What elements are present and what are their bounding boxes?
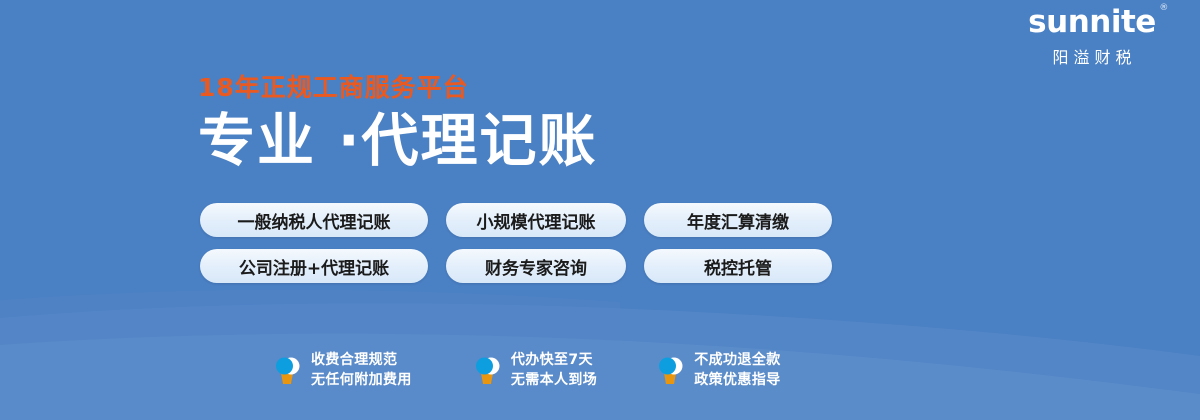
feature-item-speed: 代办快至7天 无需本人到场 [472,350,597,391]
registered-trademark-icon: ® [1159,4,1168,13]
hero-text-block: 18年正规工商服务平台 专业 ·代理记账 [198,74,598,172]
brand-logo[interactable]: sunnite ® 阳溢财税 [1002,6,1182,68]
service-pill-grid: 一般纳税人代理记账 小规模代理记账 年度汇算清缴 公司注册+代理记账 财务专家咨… [200,203,832,283]
feature-text: 代办快至7天 无需本人到场 [511,350,597,391]
feature-line-1: 不成功退全款 [694,350,780,370]
service-pill-expert-consulting[interactable]: 财务专家咨询 [446,249,626,283]
feature-line-2: 无需本人到场 [511,370,597,390]
feature-item-refund: 不成功退全款 政策优惠指导 [655,350,780,391]
logo-chinese-name: 阳溢财税 [1002,44,1182,68]
feature-line-2: 无任何附加费用 [311,370,412,390]
feature-line-2: 政策优惠指导 [694,370,780,390]
feature-item-pricing: 收费合理规范 无任何附加费用 [272,350,412,391]
logo-wordmark-text: sunnite [1028,4,1156,40]
badge-circle-icon [472,353,502,387]
service-pill-annual-settlement[interactable]: 年度汇算清缴 [644,203,832,237]
service-pill-tax-control-custody[interactable]: 税控托管 [644,249,832,283]
badge-circle-icon [272,353,302,387]
service-pill-row: 公司注册+代理记账 财务专家咨询 税控托管 [200,249,832,283]
feature-line-1: 代办快至7天 [511,350,597,370]
promo-banner: sunnite ® 阳溢财税 18年正规工商服务平台 专业 ·代理记账 一般纳税… [0,0,1200,420]
service-pill-row: 一般纳税人代理记账 小规模代理记账 年度汇算清缴 [200,203,832,237]
hero-headline: 专业 ·代理记账 [198,111,598,173]
badge-circle-icon [655,353,685,387]
service-pill-company-registration[interactable]: 公司注册+代理记账 [200,249,428,283]
service-pill-small-scale[interactable]: 小规模代理记账 [446,203,626,237]
feature-line-1: 收费合理规范 [311,350,412,370]
hero-eyebrow: 18年正规工商服务平台 [198,74,598,102]
feature-text: 收费合理规范 无任何附加费用 [311,350,412,391]
feature-strip: 收费合理规范 无任何附加费用 代办快至7天 无需本人到场 不成功退全款 [272,350,781,391]
service-pill-general-taxpayer[interactable]: 一般纳税人代理记账 [200,203,428,237]
feature-text: 不成功退全款 政策优惠指导 [694,350,780,391]
logo-wordmark: sunnite ® [1028,6,1156,39]
